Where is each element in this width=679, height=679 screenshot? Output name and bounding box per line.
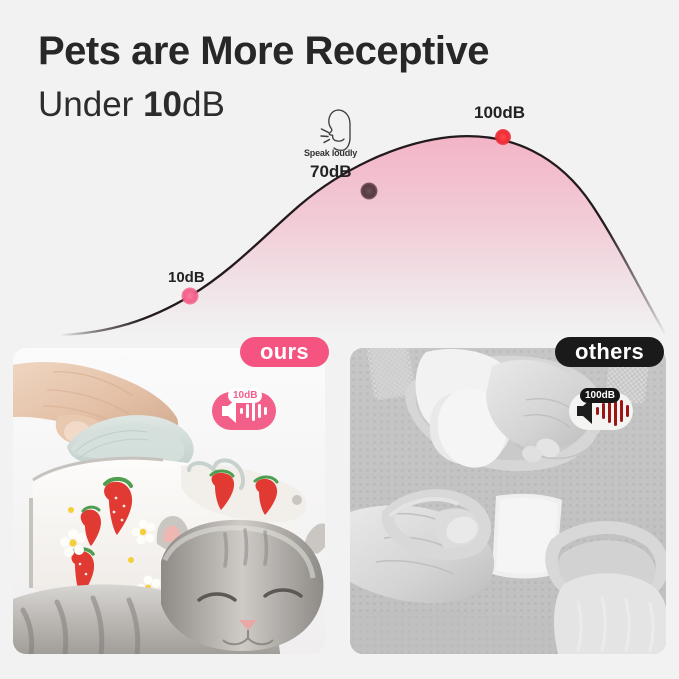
- badge-others: others: [555, 337, 664, 367]
- data-label-70db: 70dB: [310, 162, 352, 182]
- badge-ours: ours: [240, 337, 329, 367]
- sound-badge-ours-value: 10dB: [228, 388, 262, 403]
- data-point-10db[interactable]: [182, 288, 199, 305]
- data-label-100db: 100dB: [474, 103, 525, 123]
- speaking-head-icon: [314, 107, 358, 151]
- data-point-70db[interactable]: [361, 183, 378, 200]
- speak-loudly-caption: Speak loudly: [304, 148, 357, 158]
- data-label-10db: 10dB: [168, 269, 205, 286]
- product-photo-ours[interactable]: [13, 348, 325, 654]
- chart-area-fill: [60, 136, 666, 335]
- page-title: Pets are More Receptive: [38, 28, 489, 74]
- data-point-100db[interactable]: [495, 129, 511, 145]
- sound-badge-others-value: 100dB: [580, 388, 620, 403]
- infographic-page: Pets are More Receptive Under 10dB: [0, 0, 679, 679]
